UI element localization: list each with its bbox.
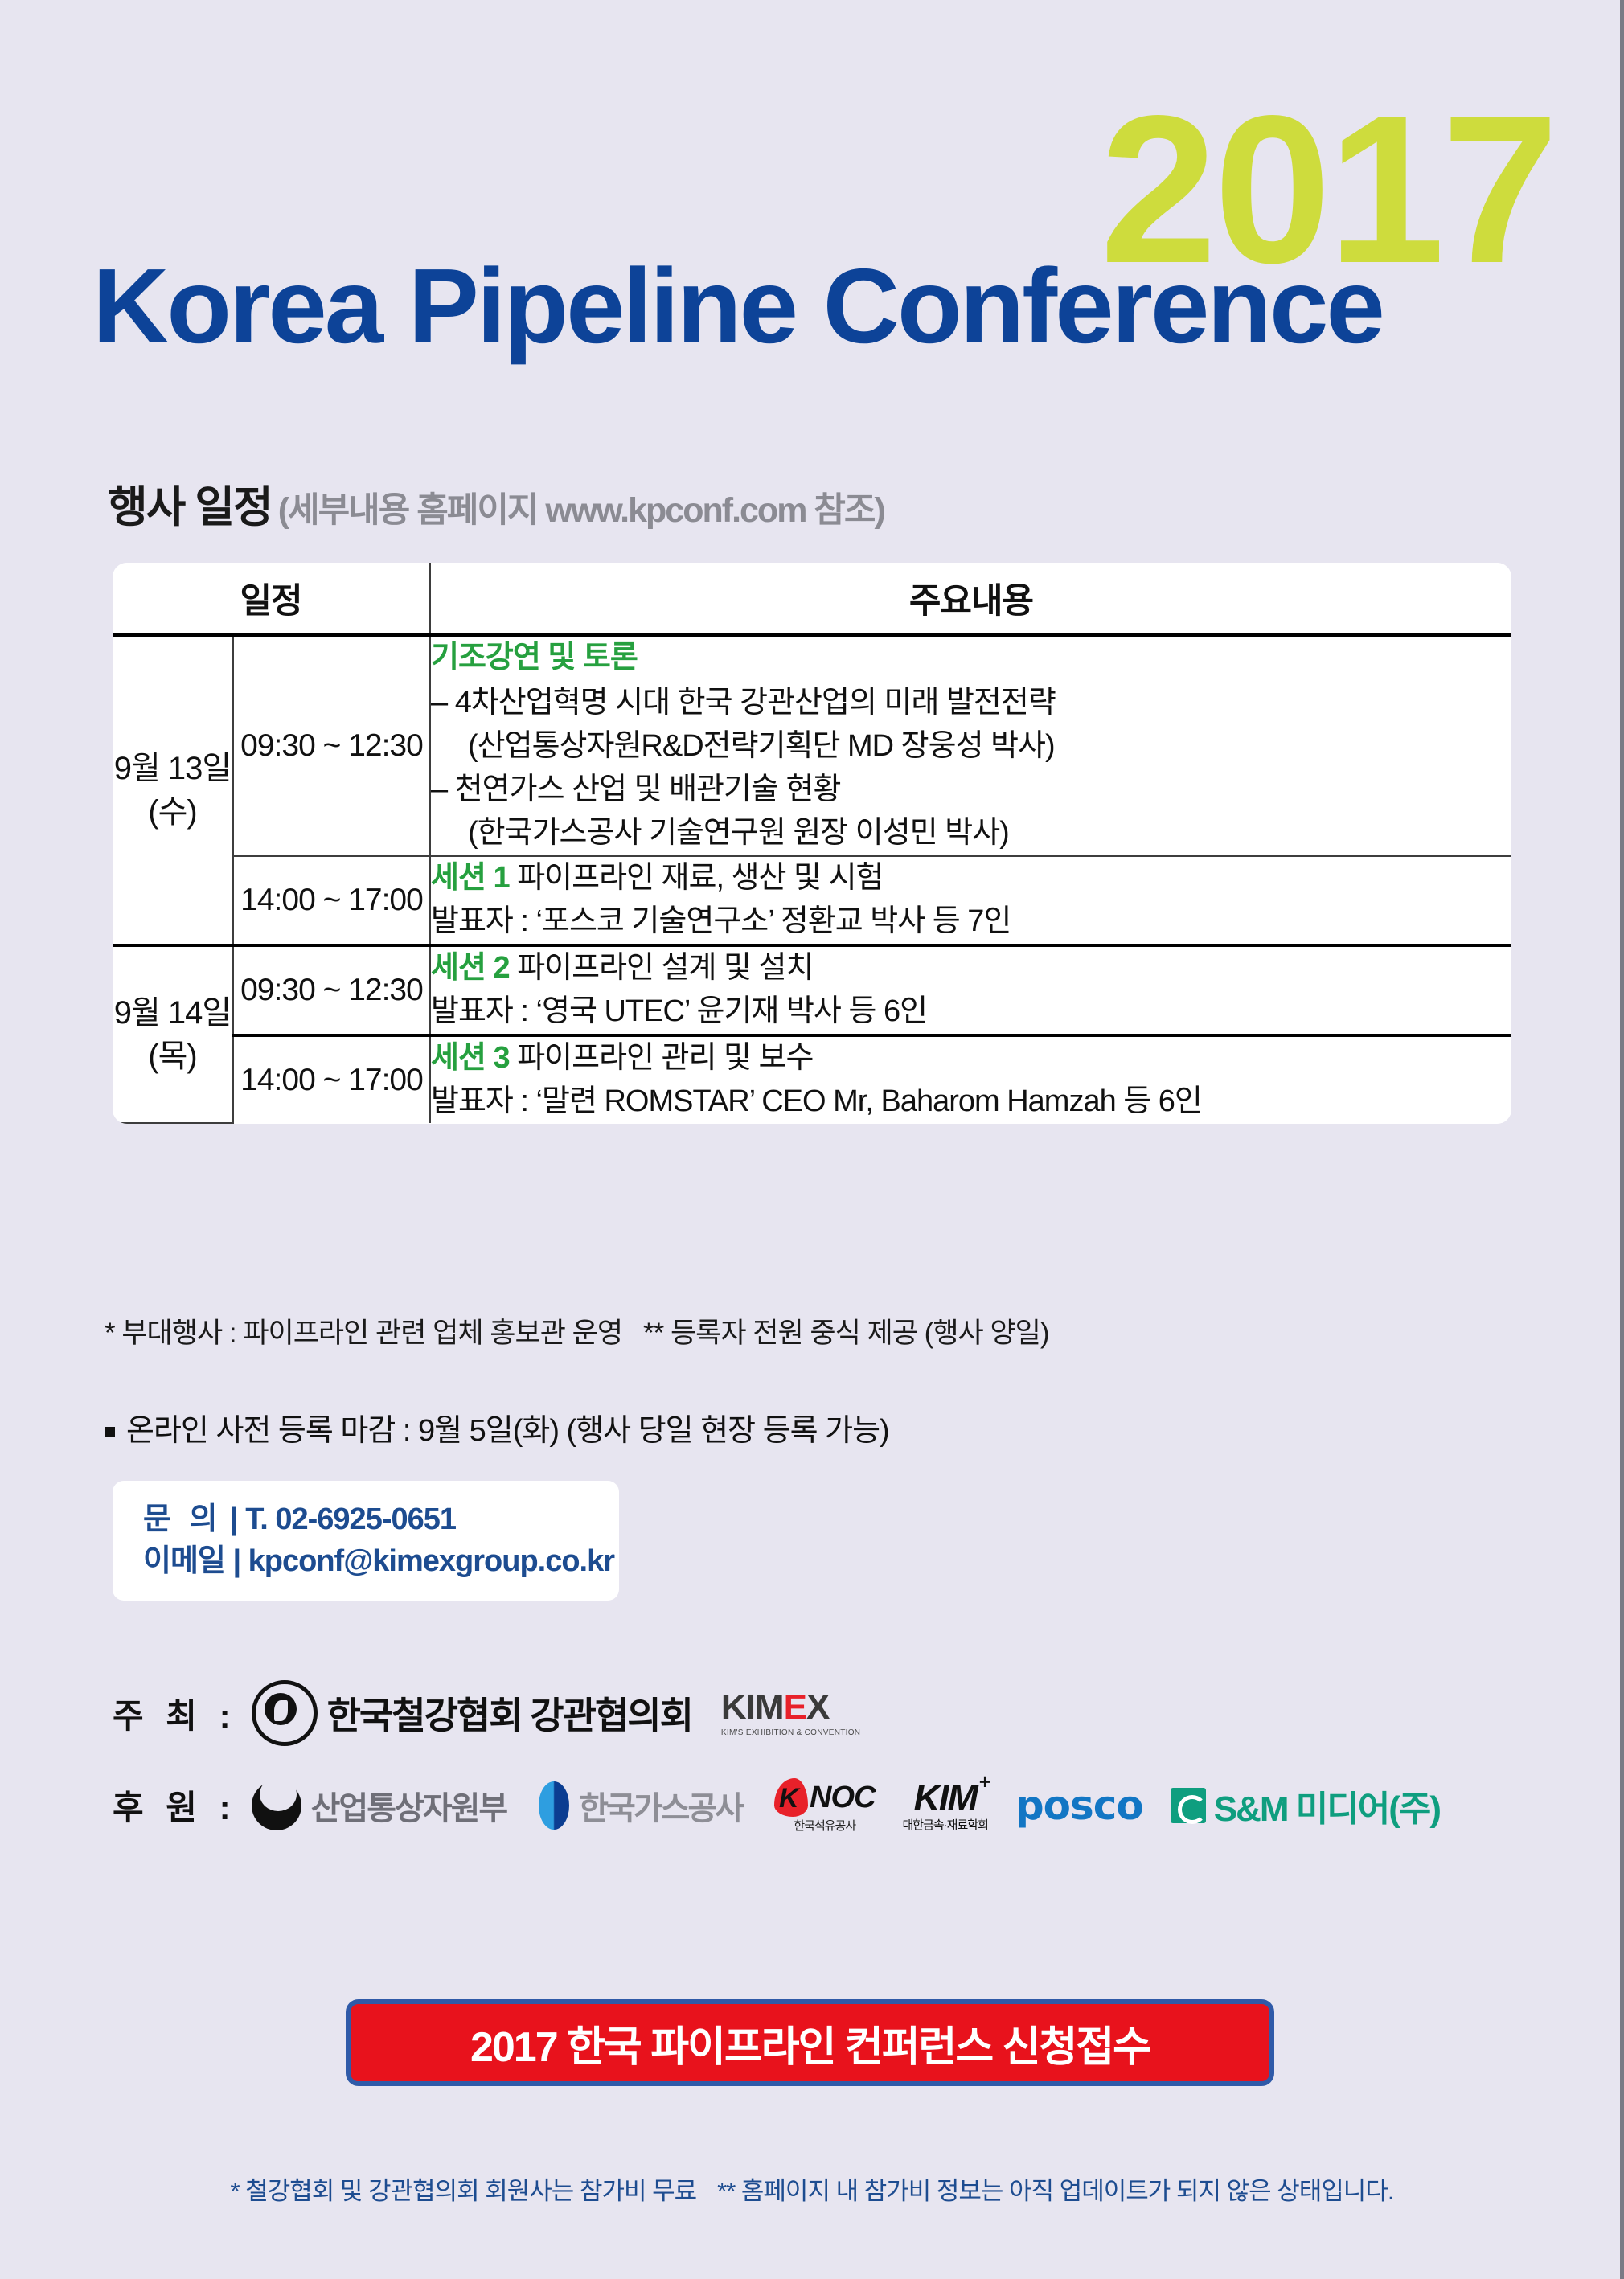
motie-taegeuk-icon [252,1781,301,1830]
contact-box: 문 의 | T. 02-6925-0651 이메일 | kpconf@kimex… [113,1481,619,1601]
knoc-top: NOC [774,1778,875,1817]
knoc-flame-icon [774,1778,808,1817]
keynote-line-3: – 천연가스 산업 및 배관기술 현황 [431,769,1511,812]
column-header-schedule: 일정 [113,563,430,635]
sponsor-motie-name: 산업통상자원부 [311,1782,507,1829]
kim-plus-icon: + [979,1771,991,1792]
content-cell-keynote: 기조강연 및 토론 – 4차산업혁명 시대 한국 강관산업의 미래 발전전략 (… [430,635,1511,856]
title-block: 2017 Korea Pipeline Conference [0,0,1624,418]
session1-label: 세션 1 [431,861,510,895]
session2-title: 파이프라인 설계 및 설치 [517,951,813,985]
time-cell: 09:30 ~ 12:30 [233,945,430,1035]
contact-separator: | [232,1544,240,1578]
schedule-table-wrapper: 일정 주요내용 9월 13일 (수) 09:30 ~ 12:30 기조강연 및 … [113,563,1511,1124]
table-row: 9월 13일 (수) 09:30 ~ 12:30 기조강연 및 토론 – 4차산… [113,635,1511,856]
knoc-korean-name: 한국석유공사 [794,1820,855,1832]
content-cell-session1: 세션 1 파이프라인 재료, 생산 및 시험 발표자 : ‘포스코 기술연구소’… [430,856,1511,945]
contact-phone-value[interactable]: T. 02-6925-0651 [245,1502,456,1536]
page-title: Korea Pipeline Conference [92,253,1383,359]
keynote-line-2: (산업통상자원R&D전략기획단 MD 장웅성 박사) [431,725,1511,769]
host-label: 주 최 : [113,1689,237,1738]
keynote-line-4: (한국가스공사 기술연구원 원장 이성민 박사) [431,812,1511,855]
contact-email-row: 이메일 | kpconf@kimexgroup.co.kr [143,1540,619,1582]
content-cell-session2: 세션 2 파이프라인 설계 및 설치 발표자 : ‘영국 UTEC’ 윤기재 박… [430,945,1511,1035]
square-bullet-icon [105,1427,115,1437]
sponsor-sm-media-name: S&M 미디어(주) [1214,1780,1440,1831]
host-row: 주 최 : 한국철강협회 강관협의회 KIMEX KIM'S EXHIBITIO… [113,1680,860,1746]
session2-title-line: 세션 2 파이프라인 설계 및 설치 [431,947,1511,990]
content-cell-session3: 세션 3 파이프라인 관리 및 보수 발표자 : ‘말련 ROMSTAR’ CE… [430,1035,1511,1124]
kimex-part-kim: KIM [721,1687,784,1727]
kimex-wordmark: KIMEX [721,1690,860,1725]
session3-title-line: 세션 3 파이프라인 관리 및 보수 [431,1037,1511,1080]
time-cell: 14:00 ~ 17:00 [233,856,430,945]
table-row: 9월 14일 (목) 09:30 ~ 12:30 세션 2 파이프라인 설계 및… [113,945,1511,1035]
day-line-1: 9월 14일 [113,991,232,1035]
day-cell-sep14: 9월 14일 (목) [113,945,233,1124]
time-cell: 14:00 ~ 17:00 [233,1035,430,1124]
kogas-flame-icon [539,1781,569,1830]
schedule-table: 일정 주요내용 9월 13일 (수) 09:30 ~ 12:30 기조강연 및 … [113,563,1511,1124]
keynote-title: 기조강연 및 토론 [431,637,1511,680]
kimex-logo: KIMEX KIM'S EXHIBITION & CONVENTION [721,1690,860,1737]
session2-label: 세션 2 [431,951,510,985]
note-side-events: * 부대행사 : 파이프라인 관련 업체 홍보관 운영 [105,1318,622,1349]
table-header-row: 일정 주요내용 [113,563,1511,635]
sponsor-row: 후 원 : 산업통상자원부 한국가스공사 NOC 한국석유공사 KIM + 대한… [113,1778,1440,1832]
session1-presenter: 발표자 : ‘포스코 기술연구소’ 정환교 박사 등 7인 [431,900,1511,944]
day-line-2: (목) [113,1035,232,1078]
posco-wordmark-icon: posco [1015,1782,1143,1829]
session1-title: 파이프라인 재료, 생산 및 시험 [517,861,883,895]
knoc-logo: NOC 한국석유공사 [774,1778,875,1832]
day-line-1: 9월 13일 [113,747,232,790]
table-row: 14:00 ~ 17:00 세션 1 파이프라인 재료, 생산 및 시험 발표자… [113,856,1511,945]
contact-email-value[interactable]: kpconf@kimexgroup.co.kr [248,1544,614,1578]
time-cell: 09:30 ~ 12:30 [233,635,430,856]
contact-separator: | [230,1502,238,1536]
session3-title: 파이프라인 관리 및 보수 [517,1041,813,1075]
contact-phone-label: 문 의 [143,1502,222,1536]
footer-notes: * 철강협회 및 강관협의회 회원사는 참가비 무료** 홈페이지 내 참가비 … [0,2170,1624,2207]
contact-email-label: 이메일 [143,1544,225,1578]
kimex-tagline: KIM'S EXHIBITION & CONVENTION [721,1729,860,1737]
session2-presenter: 발표자 : ‘영국 UTEC’ 윤기재 박사 등 6인 [431,990,1511,1034]
day-line-2: (수) [113,790,232,834]
session1-title-line: 세션 1 파이프라인 재료, 생산 및 시험 [431,857,1511,900]
note-lunch: ** 등록자 전원 중식 제공 (행사 양일) [643,1318,1049,1349]
sm-media-icon [1171,1788,1206,1823]
host-kosa-name: 한국철강협회 강관협의회 [327,1687,692,1740]
keynote-line-1: – 4차산업혁명 시대 한국 강관산업의 미래 발전전략 [431,682,1511,725]
kim-logo: KIM + 대한금속·재료학회 [902,1779,987,1831]
schedule-heading-sub: (세부내용 홈페이지 www.kpconf.com 참조) [278,491,884,530]
knoc-wordmark: NOC [810,1782,875,1813]
kim-wordmark: KIM [914,1779,977,1816]
table-row: 14:00 ~ 17:00 세션 3 파이프라인 관리 및 보수 발표자 : ‘… [113,1035,1511,1124]
sponsor-label: 후 원 : [113,1781,237,1830]
footer-note-free: * 철강협회 및 강관협의회 회원사는 참가비 무료 [231,2177,697,2205]
poster-canvas: 2017 Korea Pipeline Conference 행사 일정(세부내… [0,0,1624,2279]
kimex-part-e: E [784,1687,806,1727]
kimex-part-x: X [806,1687,829,1727]
apply-button[interactable]: 2017 한국 파이프라인 컨퍼런스 신청접수 [346,1999,1274,2086]
registration-note: 온라인 사전 등록 마감 : 9월 5일(화) (행사 당일 현장 등록 가능) [105,1405,889,1449]
sponsor-kogas-name: 한국가스공사 [579,1782,742,1829]
kim-korean-name: 대한금속·재료학회 [902,1819,987,1831]
session3-label: 세션 3 [431,1041,510,1075]
kosa-seal-icon [252,1680,318,1746]
session3-presenter: 발표자 : ‘말련 ROMSTAR’ CEO Mr, Baharom Hamza… [431,1080,1511,1124]
schedule-notes: * 부대행사 : 파이프라인 관련 업체 홍보관 운영** 등록자 전원 중식 … [105,1310,1049,1351]
day-cell-sep13: 9월 13일 (수) [113,635,233,945]
contact-phone-row: 문 의 | T. 02-6925-0651 [143,1498,619,1540]
footer-note-update: ** 홈페이지 내 참가비 정보는 아직 업데이트가 되지 않은 상태입니다. [717,2177,1393,2205]
registration-note-text: 온라인 사전 등록 마감 : 9월 5일(화) (행사 당일 현장 등록 가능) [126,1414,889,1448]
schedule-heading: 행사 일정(세부내용 홈페이지 www.kpconf.com 참조) [108,486,884,529]
schedule-heading-main: 행사 일정 [108,483,272,531]
column-header-content: 주요내용 [430,563,1511,635]
